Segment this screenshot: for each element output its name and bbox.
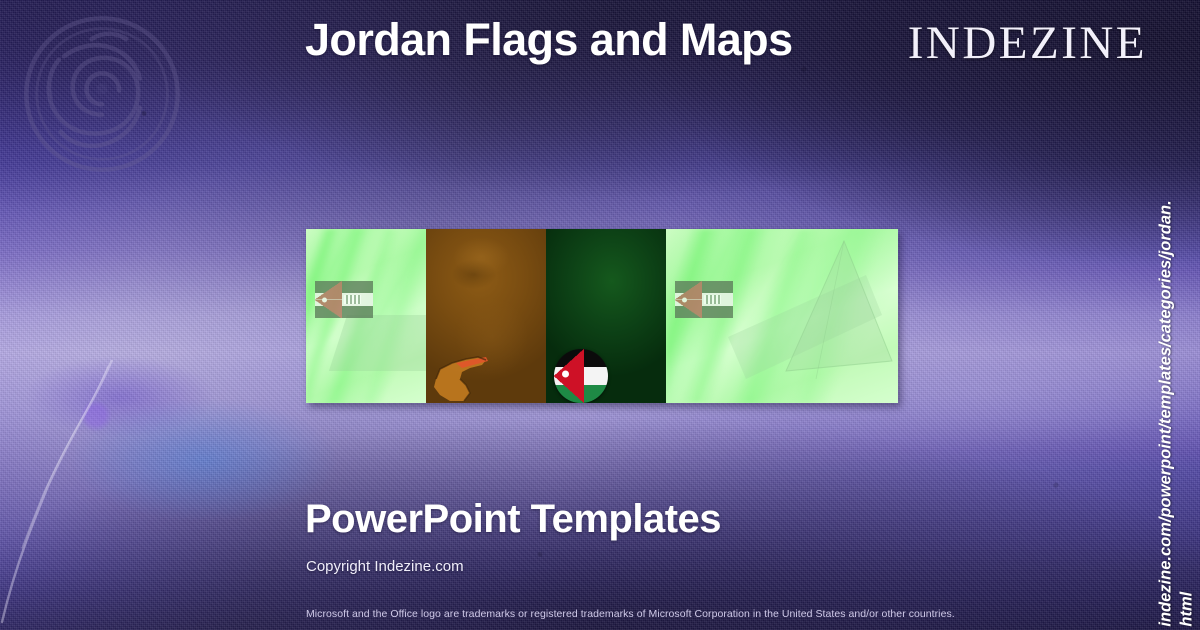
url-text-line2[interactable]: html — [1176, 0, 1197, 627]
thumbnail-jordan-map-sepia-slide[interactable] — [426, 229, 546, 403]
panel2-jordan-map-icon — [426, 229, 546, 403]
page-subtitle: PowerPoint Templates — [305, 497, 721, 542]
thumbnail-jordan-flag-wide-green-slide[interactable] — [666, 229, 898, 403]
url-text-line1[interactable]: indezine.com/powerpoint/templates/catego… — [1155, 0, 1176, 627]
background-crack-streak — [0, 360, 260, 630]
copyright-text: Copyright Indezine.com — [306, 558, 464, 575]
trademark-disclaimer: Microsoft and the Office logo are tradem… — [306, 608, 955, 620]
template-thumbnail-strip — [306, 229, 898, 403]
page-title: Jordan Flags and Maps — [305, 14, 793, 66]
panel1-jordan-flag-icon — [315, 281, 373, 318]
indezine-logo: INDEZINE — [908, 16, 1147, 70]
panel4-jordan-flag-icon — [675, 281, 733, 318]
thumbnail-jordan-round-flag-dark-green-slide[interactable] — [546, 229, 666, 403]
vertical-url-rail: indezine.com/powerpoint/templates/catego… — [1152, 0, 1198, 630]
celtic-spiral-medallion-icon — [16, 8, 188, 180]
panel3-jordan-round-flag-icon — [554, 349, 608, 403]
thumbnail-jordan-flag-light-green-slide[interactable] — [306, 229, 426, 403]
panel1-parallelogram-accent — [329, 315, 426, 371]
